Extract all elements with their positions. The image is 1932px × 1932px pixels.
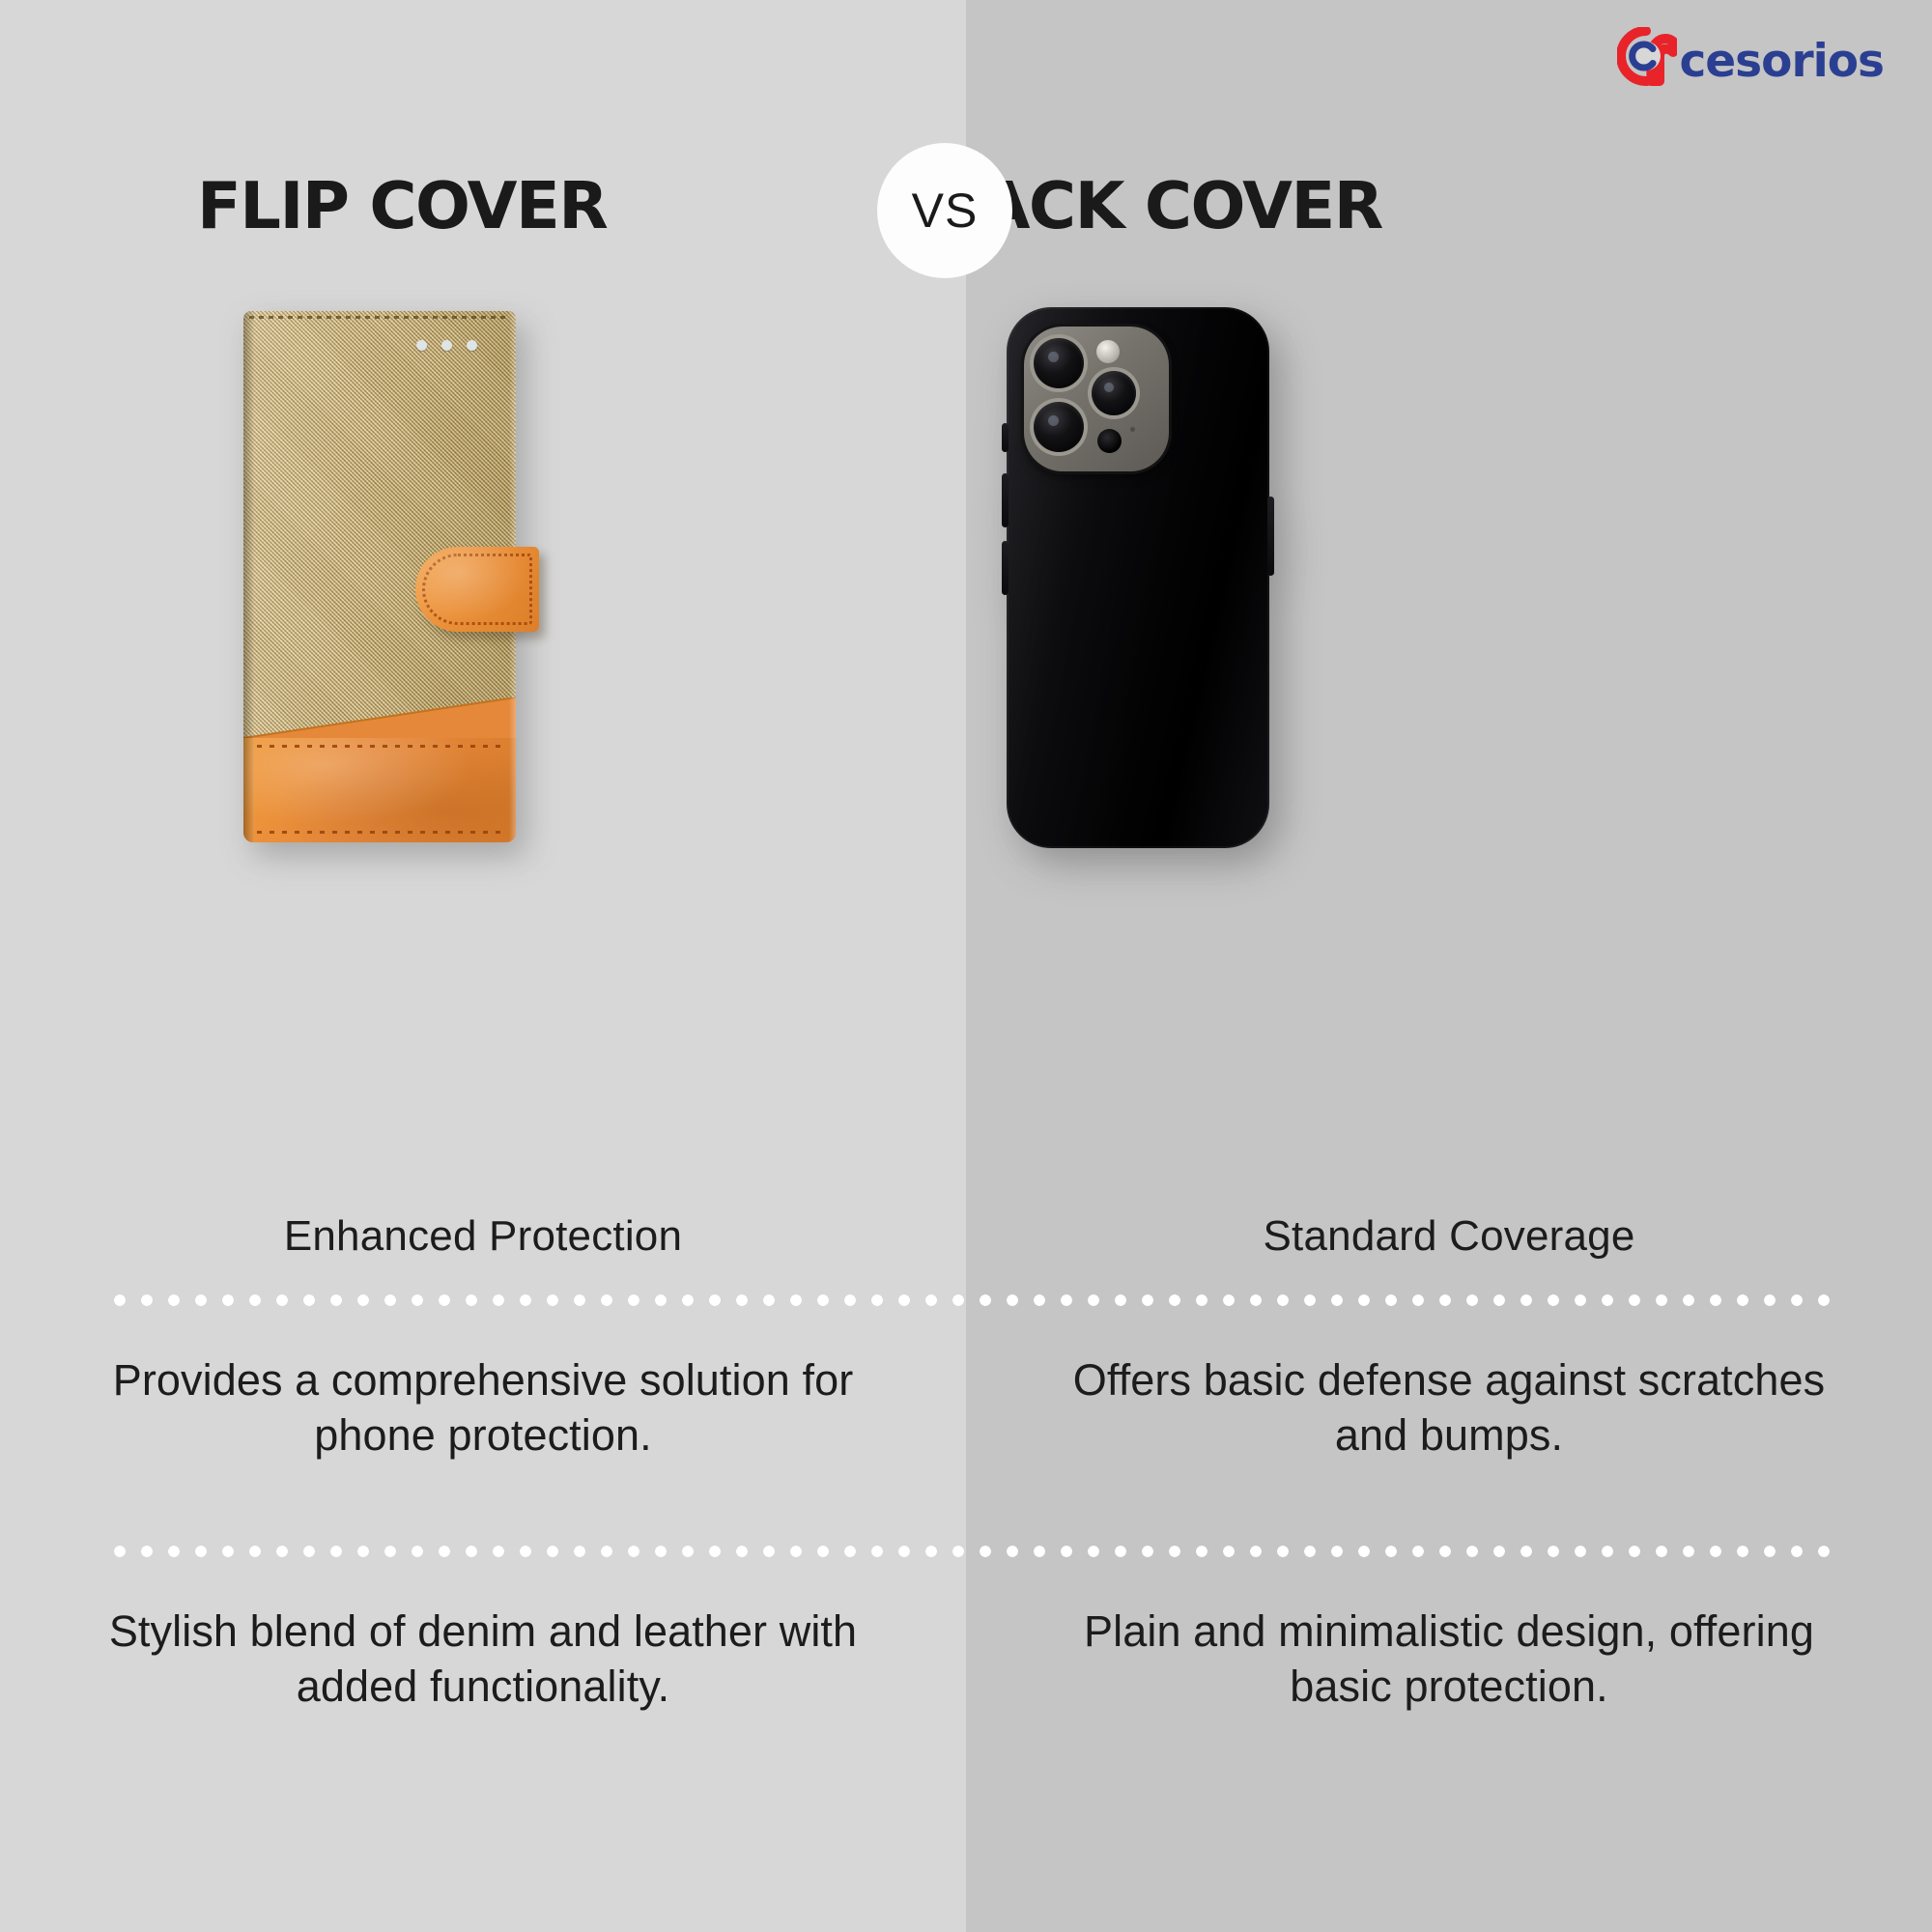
top-stitch-line <box>249 316 510 319</box>
caption-back-cover: Standard Coverage <box>1053 1212 1845 1261</box>
camera-cutout-dots-icon <box>416 340 477 351</box>
lidar-sensor-icon <box>1097 429 1122 453</box>
camera-lens-right <box>1092 371 1136 415</box>
camera-lens-bottom-left <box>1034 402 1084 452</box>
brand-name: cesorios <box>1679 39 1884 84</box>
caption-flip-cover: Enhanced Protection <box>87 1212 879 1261</box>
dotted-divider-first <box>106 1294 1835 1306</box>
back-cover-product-icon <box>1007 307 1269 848</box>
camera-flash-icon <box>1096 340 1120 363</box>
feature-back-cover-2: Plain and minimalistic design, offering … <box>1072 1604 1826 1714</box>
volume-up-button <box>1002 473 1009 527</box>
magnetic-closure-tab <box>415 547 539 632</box>
feature-flip-cover-2: Stylish blend of denim and leather with … <box>106 1604 860 1714</box>
brand-logo[interactable]: cesorios <box>1617 27 1886 87</box>
leather-diagonal-cut <box>243 697 516 738</box>
microphone-dot-icon <box>1130 427 1135 432</box>
vs-badge-label: VS <box>912 183 979 239</box>
volume-down-button <box>1002 541 1009 595</box>
leather-bottom-panel <box>243 738 516 842</box>
feature-back-cover-1: Offers basic defense against scratches a… <box>1072 1352 1826 1463</box>
camera-lens-top-left <box>1034 338 1084 388</box>
comparison-infographic: cesorios FLIP COVER BACK COVER VS <box>0 0 1932 1932</box>
feature-flip-cover-1: Provides a comprehensive solution for ph… <box>106 1352 860 1463</box>
leather-top-stitch <box>257 745 502 748</box>
column-heading-flip-cover: FLIP COVER <box>197 168 607 243</box>
power-button <box>1267 497 1274 576</box>
acesorios-a-logo-icon <box>1617 27 1677 87</box>
camera-module-icon <box>1024 327 1169 471</box>
mute-switch-cutout <box>1002 423 1009 452</box>
cover-spine-shadow <box>243 311 255 842</box>
vs-badge: VS <box>877 143 1012 278</box>
dotted-divider-second <box>106 1546 1835 1557</box>
denim-fabric-panel <box>243 311 516 748</box>
leather-bottom-stitch <box>257 831 502 834</box>
